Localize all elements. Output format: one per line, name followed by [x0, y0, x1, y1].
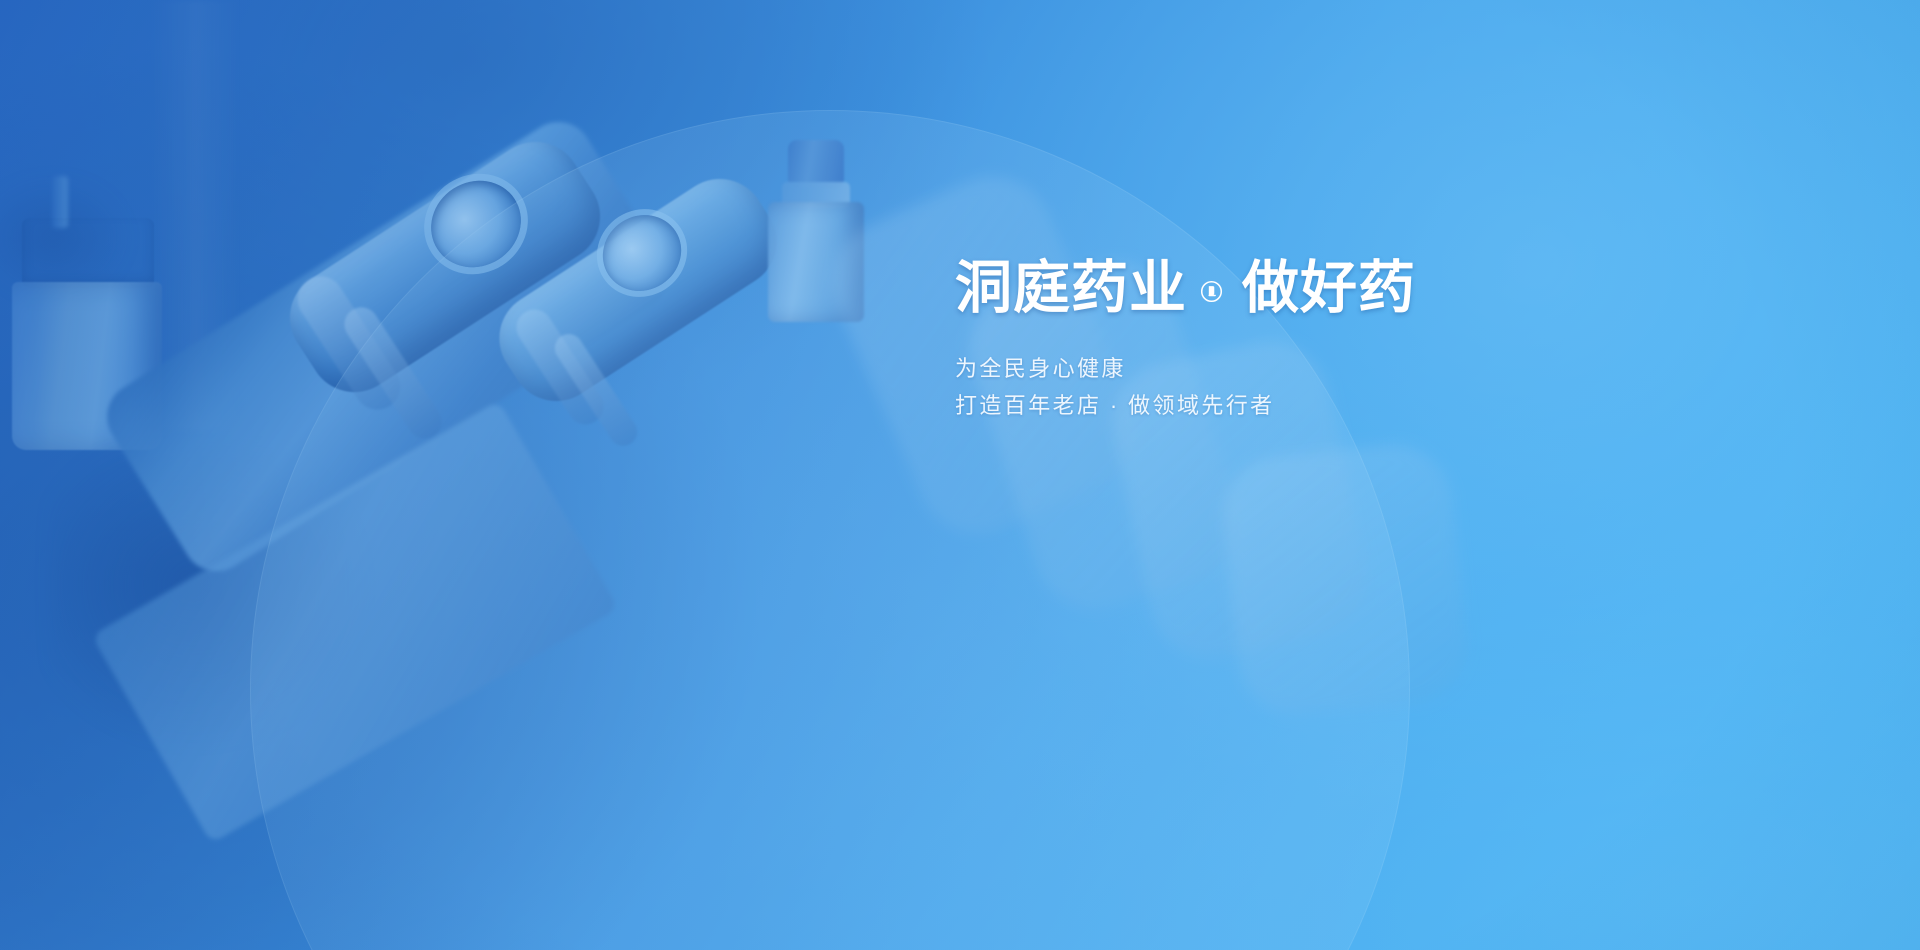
background-vignette [0, 0, 1920, 950]
headline-slogan: 做好药 [1242, 258, 1416, 320]
hero-copy: 洞庭药业 做好药 为全民身心健康 打造百年老店 · 做领域先行者 [955, 258, 1715, 425]
registered-trademark-icon [1200, 280, 1223, 303]
hero-subtitle: 为全民身心健康 打造百年老店 · 做领域先行者 [955, 350, 1715, 426]
headline-brand-name: 洞庭药业 [955, 258, 1187, 320]
hero-banner: 洞庭药业 做好药 为全民身心健康 打造百年老店 · 做领域先行者 [0, 0, 1920, 950]
hero-headline: 洞庭药业 做好药 [955, 258, 1715, 320]
subtitle-line-1: 为全民身心健康 [955, 350, 1715, 388]
subtitle-line-2: 打造百年老店 · 做领域先行者 [955, 387, 1715, 425]
